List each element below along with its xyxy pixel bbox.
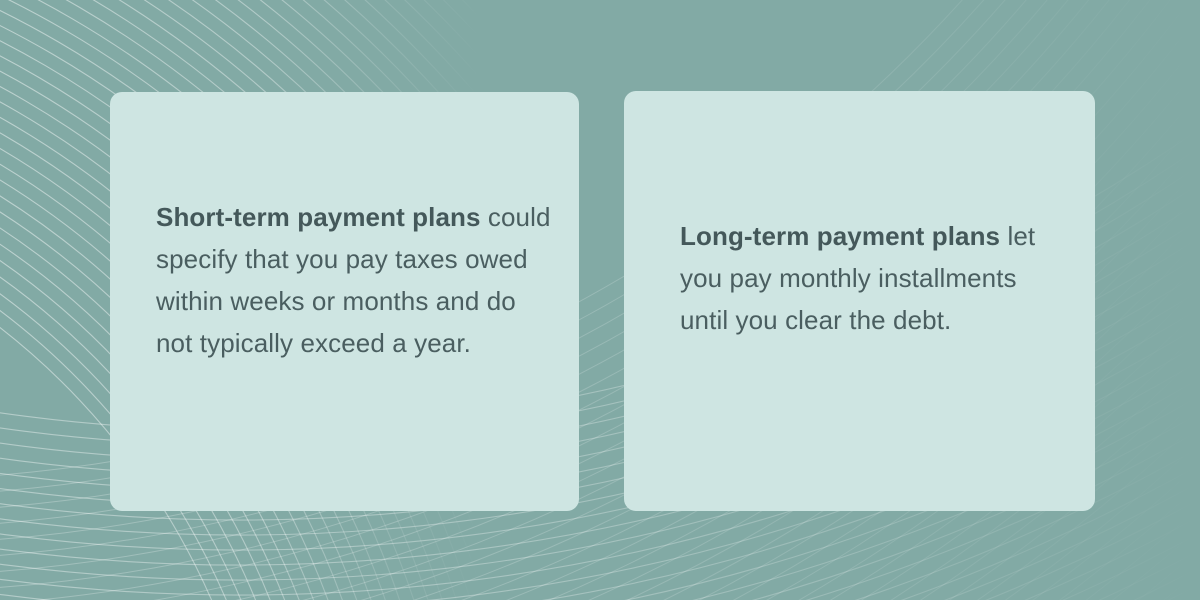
poster-canvas: Short-term payment plans could specify t… [0,0,1200,600]
card-short-term-lead: Short-term payment plans [156,202,481,232]
card-long-term-lead: Long-term payment plans [680,221,1000,251]
card-long-term-payment-plans: Long-term payment plans let you pay mont… [624,91,1095,511]
card-short-term-payment-plans: Short-term payment plans could specify t… [110,92,579,511]
card-short-term-text: Short-term payment plans could specify t… [156,196,555,364]
card-long-term-text: Long-term payment plans let you pay mont… [680,215,1071,341]
